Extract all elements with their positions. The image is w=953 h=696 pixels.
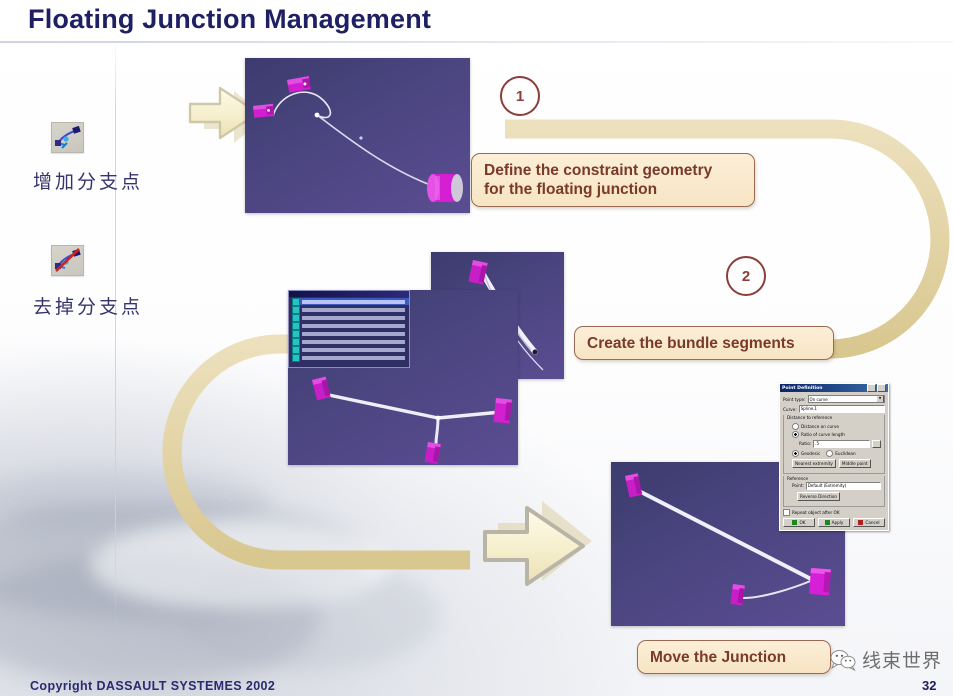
- specification-tree-row[interactable]: [292, 322, 409, 329]
- callout-step-1-line1: Define the constraint geometry: [484, 161, 742, 180]
- dialog-title: Point Definition: [782, 386, 823, 391]
- distance-to-reference-group: Distance to reference Distance on curve …: [783, 415, 885, 474]
- repeat-object-checkbox[interactable]: Repeat object after OK: [783, 509, 885, 516]
- callout-step-3: Move the Junction: [637, 640, 831, 674]
- point-type-row: Point type: On curve ▼: [783, 395, 885, 403]
- tree-row-label: [302, 316, 405, 320]
- close-icon[interactable]: [877, 384, 886, 392]
- background-cloud-band: [0, 555, 320, 685]
- tree-row-label: [302, 300, 405, 304]
- title-divider: [0, 41, 953, 43]
- page-number: 32: [922, 678, 936, 693]
- ok-button[interactable]: OK: [783, 518, 815, 527]
- callout-step-2: Create the bundle segments: [574, 326, 834, 360]
- reverse-direction-button[interactable]: Reverse Direction: [797, 492, 840, 501]
- tree-node-icon: [292, 338, 300, 346]
- specification-tree-row[interactable]: [292, 338, 409, 345]
- radio-icon: [826, 450, 833, 457]
- callout-step-1: Define the constraint geometry for the f…: [471, 153, 755, 207]
- curve-row: Curve: Spline.1: [783, 405, 885, 413]
- tree-row-label: [302, 348, 405, 352]
- page-title: Floating Junction Management: [28, 4, 431, 35]
- reference-point-row: Point: Default (Extremity): [792, 482, 881, 490]
- remove-branch-point-label: 去掉分支点: [33, 292, 143, 319]
- tree-node-icon: [292, 346, 300, 354]
- radio-geodesic-label: Geodesic: [801, 451, 820, 456]
- tree-row-label: [302, 332, 405, 336]
- wechat-watermark: 线束世界: [830, 646, 942, 673]
- ratio-row: Ratio: .5: [799, 440, 881, 448]
- curve-label: Curve:: [783, 407, 797, 412]
- viewport-step1[interactable]: [245, 58, 470, 213]
- reverse-direction-row: Reverse Direction: [797, 492, 881, 501]
- radio-distance-on-curve-label: Distance on curve: [801, 424, 839, 429]
- wechat-logo-icon: [830, 649, 856, 671]
- help-button[interactable]: [867, 384, 876, 392]
- background-cloud-band: [0, 470, 270, 530]
- extremity-buttons-row: Nearest extremity Middle point: [792, 459, 881, 468]
- specification-tree-titlebar: [289, 291, 409, 297]
- checkbox-icon: [783, 509, 790, 516]
- specification-tree-row[interactable]: [292, 306, 409, 313]
- point-definition-dialog[interactable]: Point Definition Point type: On curve ▼ …: [779, 383, 889, 531]
- ok-icon: [792, 520, 797, 525]
- chevron-down-icon[interactable]: ▼: [876, 395, 884, 403]
- background-cloud-highlight: [90, 520, 390, 610]
- reference-point-input[interactable]: Default (Extremity): [806, 482, 881, 490]
- middle-point-button[interactable]: Middle point: [839, 459, 871, 468]
- reference-group: Reference Point: Default (Extremity) Rev…: [783, 476, 885, 507]
- radio-distance-on-curve[interactable]: Distance on curve: [792, 423, 881, 430]
- specification-tree-row[interactable]: [292, 314, 409, 321]
- radio-ratio-of-curve-length[interactable]: Ratio of curve length: [792, 431, 881, 438]
- callout-step-1-line2: for the floating junction: [484, 180, 742, 199]
- specification-tree-row[interactable]: [292, 298, 409, 305]
- reference-point-label: Point:: [792, 483, 804, 488]
- step-number-2: 2: [726, 256, 766, 296]
- tree-row-label: [302, 340, 405, 344]
- specification-tree[interactable]: [288, 290, 410, 368]
- radio-icon-selected: [792, 431, 799, 438]
- radio-geodesic[interactable]: Geodesic: [792, 450, 820, 457]
- distance-group-label: Distance to reference: [787, 415, 835, 420]
- specification-tree-row[interactable]: [292, 354, 409, 361]
- radio-ratio-label: Ratio of curve length: [801, 432, 845, 437]
- radio-icon: [792, 423, 799, 430]
- dialog-titlebar[interactable]: Point Definition: [780, 384, 888, 392]
- copyright-notice: Copyright DASSAULT SYSTEMES 2002: [30, 679, 275, 693]
- tree-row-label: [302, 324, 405, 328]
- apply-label: Apply: [832, 520, 844, 525]
- tree-node-icon: [292, 330, 300, 338]
- tree-row-label: [302, 356, 405, 360]
- point-type-label: Point type:: [783, 397, 806, 402]
- background-cloud-band: [0, 500, 370, 620]
- dialog-body: Point type: On curve ▼ Curve: Spline.1 D…: [780, 392, 888, 530]
- ratio-stepper[interactable]: [872, 440, 881, 448]
- radio-icon-selected: [792, 450, 799, 457]
- specification-tree-row[interactable]: [292, 346, 409, 353]
- dialog-window-buttons: [867, 384, 886, 392]
- radio-euclidean-label: Euclidean: [835, 451, 855, 456]
- reference-group-label: Reference: [787, 476, 811, 481]
- remove-branch-point-icon[interactable]: [51, 245, 84, 276]
- ratio-label: Ratio:: [799, 441, 811, 446]
- tree-row-label: [302, 308, 405, 312]
- tree-node-icon: [292, 298, 300, 306]
- tree-node-icon: [292, 314, 300, 322]
- specification-tree-row[interactable]: [292, 330, 409, 337]
- apply-icon: [825, 520, 830, 525]
- curve-input[interactable]: Spline.1: [799, 405, 885, 413]
- ok-label: OK: [799, 520, 805, 525]
- nearest-extremity-button[interactable]: Nearest extremity: [792, 459, 836, 468]
- metric-radios-row: Geodesic Euclidean: [792, 450, 881, 457]
- apply-button[interactable]: Apply: [818, 518, 850, 527]
- viewport-step2[interactable]: [288, 290, 518, 465]
- cancel-button[interactable]: Cancel: [853, 518, 885, 527]
- tree-node-icon: [292, 354, 300, 362]
- cancel-icon: [858, 520, 863, 525]
- ratio-input[interactable]: .5: [813, 440, 870, 448]
- point-type-select[interactable]: On curve ▼: [808, 395, 886, 403]
- tree-node-icon: [292, 322, 300, 330]
- tree-node-icon: [292, 306, 300, 314]
- step-number-1: 1: [500, 76, 540, 116]
- point-type-value: On curve: [810, 397, 828, 402]
- vertical-guide-line: [115, 36, 116, 636]
- slide-canvas: Floating Junction Management: [0, 0, 953, 696]
- cancel-label: Cancel: [865, 520, 879, 525]
- background-cloud-band: [180, 560, 440, 670]
- add-branch-point-icon[interactable]: [51, 122, 84, 153]
- radio-euclidean[interactable]: Euclidean: [826, 450, 855, 457]
- dialog-buttons: OK Apply Cancel: [783, 518, 885, 527]
- add-branch-point-label: 增加分支点: [33, 167, 143, 194]
- wechat-account-name: 线束世界: [862, 646, 942, 673]
- repeat-object-label: Repeat object after OK: [792, 510, 840, 515]
- flow-arrow-icon: [480, 500, 590, 592]
